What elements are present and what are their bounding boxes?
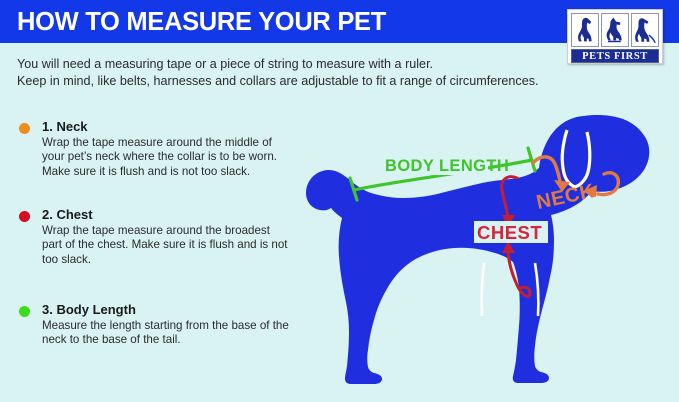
step-2-body-line-1: Wrap the tape measure around the broades… bbox=[42, 224, 287, 238]
step-2-title: 2. Chest bbox=[42, 207, 287, 223]
step-3-title: 3. Body Length bbox=[42, 302, 287, 318]
intro-line-1: You will need a measuring tape or a piec… bbox=[17, 56, 617, 73]
step-2-body-line-2: part of the chest. Make sure it is flush… bbox=[42, 238, 287, 252]
step-neck: 1. Neck Wrap the tape measure around the… bbox=[19, 119, 287, 179]
step-3-body-line-2: neck to the base of the tail. bbox=[42, 333, 287, 347]
step-body-length: 3. Body Length Measure the length starti… bbox=[19, 302, 287, 348]
step-2-body: Wrap the tape measure around the broades… bbox=[42, 224, 287, 267]
dog-sitting-side-icon bbox=[631, 13, 659, 47]
step-1-body: Wrap the tape measure around the middle … bbox=[42, 136, 287, 179]
step-2-body-line-3: too slack. bbox=[42, 253, 287, 267]
step-3-body-line-1: Measure the length starting from the bas… bbox=[42, 319, 287, 333]
step-1-title: 1. Neck bbox=[42, 119, 287, 135]
dog-hind-leg-line bbox=[482, 263, 484, 316]
dog-sitting-icon bbox=[571, 13, 599, 47]
dog-measurement-diagram: BODY LENGTH NECK bbox=[291, 108, 679, 402]
intro-paragraph: You will need a measuring tape or a piec… bbox=[17, 56, 617, 89]
logo-frames bbox=[571, 13, 659, 47]
step-1-bullet-dot bbox=[19, 123, 30, 134]
step-chest: 2. Chest Wrap the tape measure around th… bbox=[19, 207, 287, 267]
step-3-bullet-dot bbox=[19, 306, 30, 317]
chest-label: CHEST bbox=[477, 222, 542, 243]
dog-standing-paw-icon bbox=[601, 13, 629, 47]
step-1-body-line-2: your pet’s neck where the collar is to b… bbox=[42, 150, 287, 164]
body-length-label: BODY LENGTH bbox=[385, 157, 509, 175]
step-1-body-line-1: Wrap the tape measure around the middle … bbox=[42, 136, 287, 150]
step-1-body-line-3: Make sure it is flush and is not too sla… bbox=[42, 165, 287, 179]
infographic-page: HOW TO MEASURE YOUR PET bbox=[0, 0, 679, 402]
intro-line-2: Keep in mind, like belts, harnesses and … bbox=[17, 73, 617, 90]
page-title: HOW TO MEASURE YOUR PET bbox=[17, 8, 386, 36]
step-2-bullet-dot bbox=[19, 211, 30, 222]
step-3-body: Measure the length starting from the bas… bbox=[42, 319, 287, 348]
